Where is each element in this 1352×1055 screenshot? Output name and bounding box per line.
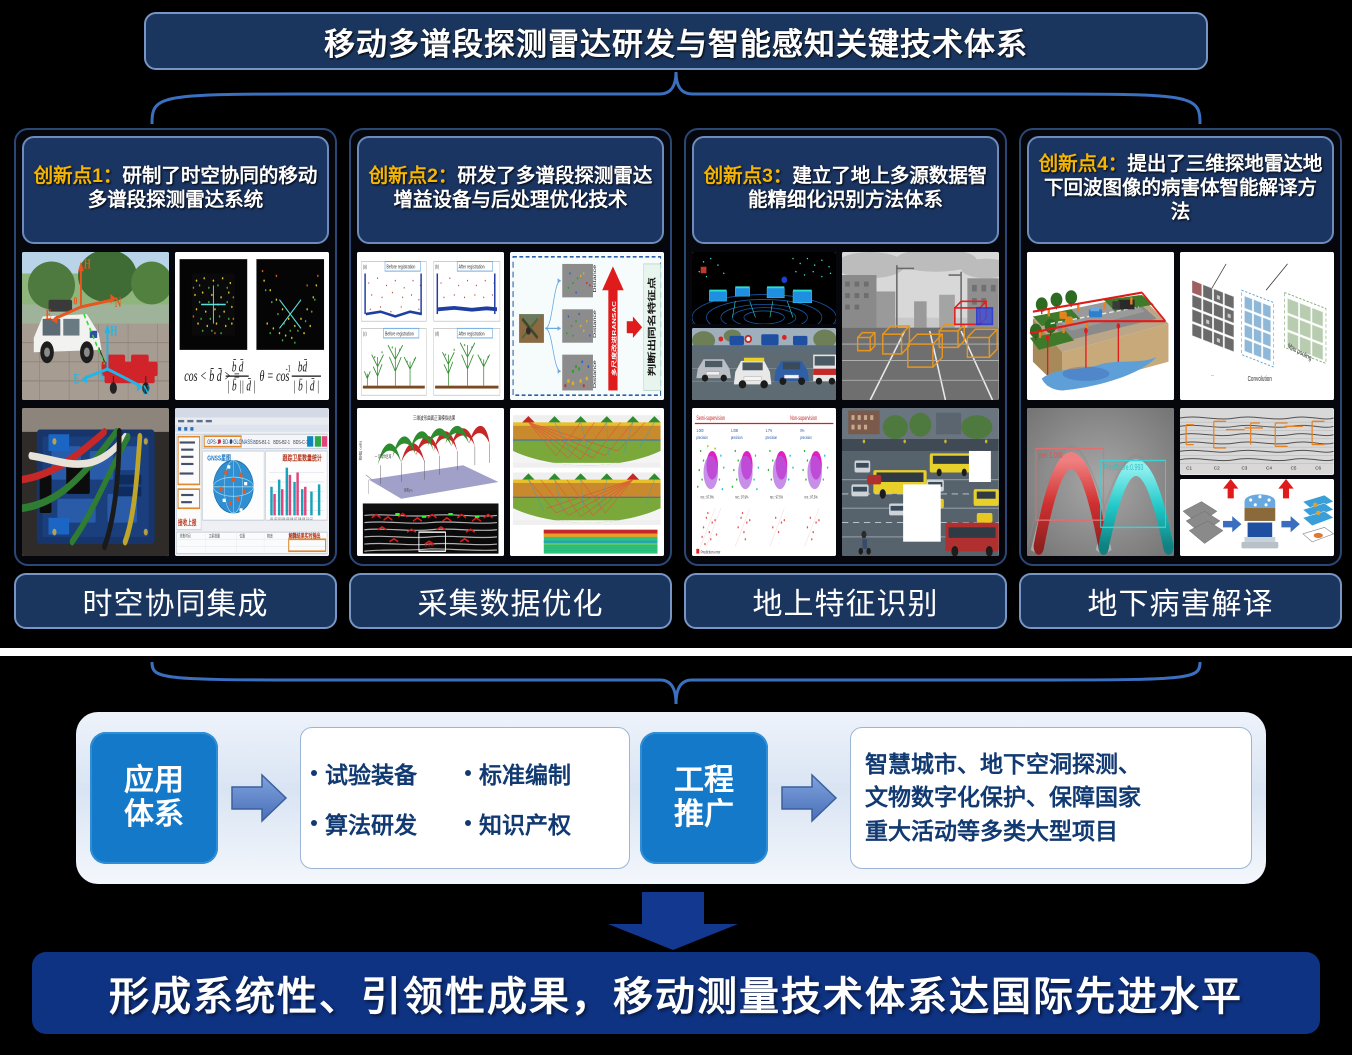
- svg-text:(a): (a): [363, 264, 367, 270]
- innovation-column-3[interactable]: 创新点3：建立了地上多源数据智能精细化识别方法体系: [684, 128, 1007, 566]
- innovation-4-header: 创新点4：提出了三维探地雷达地下回波图像的病害体智能解译方法: [1027, 136, 1334, 244]
- svg-text:(d): (d): [435, 331, 439, 337]
- bullet-label-4: 知识产权: [479, 806, 571, 840]
- svg-text:Prediction error: Prediction error: [701, 549, 721, 555]
- innovation-3-header: 创新点3：建立了地上多源数据智能精细化识别方法体系: [692, 136, 999, 244]
- svg-text:After registration: After registration: [459, 264, 485, 271]
- svg-text:E: E: [46, 306, 52, 323]
- svg-text:位置: 位置: [240, 533, 246, 539]
- innovation-3-index: 创新点3：: [704, 165, 793, 187]
- application-system-box[interactable]: 应用 体系: [90, 732, 218, 864]
- 3d-bounding-box-detection: [842, 252, 999, 400]
- svg-text:多尺度改进RANSAC: 多尺度改进RANSAC: [611, 301, 618, 376]
- svg-text:0: 0: [100, 371, 104, 384]
- bullet-item-3[interactable]: 算法研发: [311, 806, 465, 840]
- innovation-4-figures: ... Convolution: [1027, 244, 1334, 556]
- svg-text:接收上报: 接收上报: [178, 518, 198, 528]
- innovation-2-index: 创新点2：: [369, 165, 458, 187]
- svg-text:卫星数量: 卫星数量: [209, 533, 220, 539]
- svg-text:精度: 精度: [268, 533, 274, 539]
- svg-text:1.000: 1.000: [696, 427, 704, 433]
- svg-text:...: ...: [1211, 373, 1214, 379]
- svg-text:距离(m): 距离(m): [404, 487, 412, 493]
- innovation-column-4[interactable]: 创新点4：提出了三维探地雷达地下回波图像的病害体智能解译方法: [1019, 128, 1342, 566]
- bullet-label-3: 算法研发: [325, 806, 417, 840]
- bullet-item-4[interactable]: 知识产权: [465, 806, 619, 840]
- application-system-line-1: 应用: [124, 764, 184, 797]
- gpr-profile-markers: C1C2C3C4C5C6: [1180, 408, 1334, 475]
- layered-ray-path-model: [510, 408, 664, 556]
- svg-text:| b̄ || d̄ |: | b̄ || d̄ |: [228, 377, 257, 394]
- svg-text:C3: C3: [1242, 465, 1248, 471]
- 3d-waveform-surface-and-radargram: 三维波形曲面正演模拟结果: [357, 408, 504, 556]
- bullet-dot-icon: [465, 770, 471, 776]
- innovation-columns: 创新点1：研制了时空协同的移动多谱段探测雷达系统: [14, 128, 1342, 566]
- svg-text:采集时间: 采集时间: [180, 533, 191, 539]
- promotion-text-line-1: 智慧城市、地下空洞探测、: [865, 748, 1141, 781]
- innovation-1-title: 研制了时空协同的移动多谱段探测雷达系统: [88, 165, 318, 211]
- svg-text:Before registration: Before registration: [385, 331, 414, 338]
- svg-text:1.000: 1.000: [731, 427, 739, 433]
- bullet-dot-icon: [465, 820, 471, 826]
- svg-text:(b): (b): [435, 264, 439, 270]
- svg-text:C5: C5: [1291, 465, 1297, 471]
- promotion-line-1: 工程: [674, 764, 734, 797]
- svg-text:C1: C1: [1187, 465, 1193, 471]
- arrow-down-icon: [598, 890, 748, 952]
- svg-text:判断出同名特征点: 判断出同名特征点: [647, 276, 657, 376]
- outcome-label-1[interactable]: 时空协同集成: [14, 573, 337, 629]
- svg-text:After registration: After registration: [459, 331, 485, 338]
- bullet-label-2: 标准编制: [479, 756, 571, 790]
- bullet-label-1: 试验装备: [325, 756, 417, 790]
- svg-text:(c): (c): [363, 331, 367, 337]
- innovation-column-1[interactable]: 创新点1：研制了时空协同的移动多谱段探测雷达系统: [14, 128, 337, 566]
- svg-text:GLONASS: GLONASS: [234, 439, 254, 446]
- svg-text:C2: C2: [1214, 465, 1220, 471]
- innovation-4-index: 创新点4：: [1039, 153, 1128, 175]
- road-subsurface-survey-3d-model: [1027, 252, 1174, 400]
- gnss-satellite-tracking-software: 接收上报 GPS-1BD-1GLONASS BDS-B1-1BDS-B2-1BD…: [175, 408, 329, 556]
- outcome-label-2[interactable]: 采集数据优化: [349, 573, 672, 629]
- innovation-1-index: 创新点1：: [34, 165, 123, 187]
- synchronization-circuit-board-photo: [22, 408, 169, 556]
- promotion-text-line-2: 文物数字化保护、保障国家: [865, 781, 1141, 814]
- svg-text:pre: 1.000: pre: 1.000: [1039, 451, 1063, 461]
- outcome-label-3[interactable]: 地上特征识别: [684, 573, 1007, 629]
- supervision-comparison-charts: Semi-supervision Non-supervision 1.000pr…: [692, 408, 836, 556]
- innovation-3-figures: Semi-supervision Non-supervision 1.000pr…: [692, 244, 999, 556]
- svg-text:H: H: [110, 322, 117, 339]
- svg-text:1.7%: 1.7%: [766, 427, 773, 433]
- svg-text:bd̄: bd̄: [298, 358, 308, 375]
- svg-text:N: N: [115, 294, 122, 311]
- svg-text:振幅 (dB): 振幅 (dB): [358, 440, 362, 461]
- promotion-line-2: 推广: [674, 798, 734, 831]
- bullet-item-1[interactable]: 试验装备: [311, 756, 465, 790]
- bullet-dot-icon: [311, 770, 317, 776]
- page-title: 移动多谱段探测雷达研发与智能感知关键技术体系: [144, 12, 1208, 70]
- svg-text:rec.: 97.8%: rec.: 97.8%: [701, 495, 715, 500]
- svg-text:C6: C6: [1316, 465, 1322, 471]
- svg-text:Distance: Distance: [593, 359, 598, 388]
- svg-text:precision: precision: [800, 434, 812, 440]
- svg-text:rec.: 97.5%: rec.: 97.5%: [805, 495, 819, 500]
- innovation-1-header: 创新点1：研制了时空协同的移动多谱段探测雷达系统: [22, 136, 329, 244]
- mid-brace-connector: [0, 656, 1352, 708]
- svg-text:G1 G2 G3 G4 G5 G6 G7 G8 G9 C: G1 G2 G3 G4 G5 G6 G7 G8 G9 C1 C2: [271, 517, 314, 522]
- point-cloud-registration-formula: cos < b̄ d̄ > = b̄ d̄ | b̄ || d̄ | θ = c…: [175, 252, 329, 400]
- svg-text:异常体: 异常体: [425, 542, 434, 548]
- bullet-item-2[interactable]: 标准编制: [465, 756, 619, 790]
- outcome-label-4[interactable]: 地下病害解译: [1019, 573, 1342, 629]
- svg-text:Semi-supervision: Semi-supervision: [696, 415, 725, 422]
- svg-text:-1: -1: [286, 363, 291, 374]
- bullet-dot-icon: [311, 820, 317, 826]
- innovation-column-2[interactable]: 创新点2：研发了多谱段探测雷达增益设备与后处理优化技术 Before regis…: [349, 128, 672, 566]
- final-outcome-banner: 形成系统性、引领性成果，移动测量技术体系达国际先进水平: [32, 952, 1320, 1034]
- top-brace-connector: [0, 70, 1352, 126]
- column-outcome-labels: 时空协同集成 采集数据优化 地上特征识别 地下病害解译: [14, 573, 1342, 629]
- svg-text:| b̄ | d̄ |: | b̄ | d̄ |: [294, 377, 320, 394]
- svg-text:0%: 0%: [800, 427, 805, 433]
- innovation-2-header: 创新点2：研发了多谱段探测雷达增益设备与后处理优化技术: [357, 136, 664, 244]
- promotion-text-line-3: 重大活动等多类大型项目: [865, 815, 1141, 848]
- arrow-right-icon: [228, 765, 290, 831]
- svg-text:Distance: Distance: [593, 264, 598, 293]
- svg-text:Before registration: Before registration: [386, 264, 415, 271]
- svg-text:BDS-B1-1: BDS-B1-1: [254, 439, 271, 446]
- svg-text:PredScore:0.993: PredScore:0.993: [1104, 463, 1144, 473]
- svg-text:precision: precision: [731, 434, 743, 440]
- svg-text:N: N: [143, 382, 150, 399]
- before-after-registration-pointclouds: Before registration (a) After registr: [357, 252, 504, 400]
- svg-text:Non-supervision: Non-supervision: [790, 415, 817, 422]
- svg-text:BDS-C-1: BDS-C-1: [294, 439, 309, 446]
- aerial-traffic-scene-photo: [842, 408, 999, 556]
- section-divider: [0, 648, 1352, 656]
- svg-text:Distance: Distance: [593, 309, 598, 338]
- lidar-pointcloud-vehicle-detection: [692, 252, 836, 324]
- svg-text:E: E: [74, 370, 80, 387]
- application-band: 应用 体系 试验装备 标准编制 算法研发 知识产权: [76, 712, 1266, 884]
- application-system-line-2: 体系: [124, 798, 184, 831]
- svg-text:C4: C4: [1266, 465, 1272, 471]
- svg-text:b̄ d̄: b̄ d̄: [232, 358, 244, 375]
- svg-text:GPS-1: GPS-1: [208, 439, 220, 446]
- application-bullets-card: 试验装备 标准编制 算法研发 知识产权: [300, 727, 630, 869]
- svg-text:0: 0: [74, 295, 78, 308]
- svg-text:跟踪卫星数量统计: 跟踪卫星数量统计: [283, 452, 323, 463]
- svg-text:H: H: [84, 255, 91, 272]
- cnn-feature-map-layers: ... Convolution: [1180, 252, 1334, 400]
- svg-text:rec.: 97.5%: rec.: 97.5%: [770, 495, 784, 500]
- ai-interpretation-pipeline: [1180, 479, 1334, 556]
- svg-text:解算结果实时输出: 解算结果实时输出: [289, 531, 321, 541]
- svg-text:一 异常体区域: 一 异常体区域: [375, 453, 392, 459]
- promotion-scope-card: 智慧城市、地下空洞探测、 文物数字化保护、保障国家 重大活动等多类大型项目: [850, 727, 1252, 869]
- vehicle-mounted-multispectral-radar-photo: H E N 0 H E N 0: [22, 252, 169, 400]
- svg-text:BDS-B2-1: BDS-B2-1: [274, 439, 291, 446]
- svg-text:precision: precision: [766, 434, 778, 440]
- svg-text:Convolution: Convolution: [1248, 376, 1272, 383]
- innovation-1-figures: H E N 0 H E N 0: [22, 244, 329, 556]
- innovation-2-figures: Before registration (a) After registr: [357, 244, 664, 556]
- engineering-promotion-box[interactable]: 工程 推广: [640, 732, 768, 864]
- arrow-right-icon: [778, 765, 840, 831]
- urban-street-scene-annotation: [692, 328, 836, 400]
- hyperbola-echo-detection: pre: 1.000 PredScore:0.993: [1027, 408, 1174, 556]
- svg-text:precision: precision: [696, 434, 708, 440]
- same-name-feature-point-matching-flow: Distance Distance: [510, 252, 664, 400]
- svg-text:rec.: 97.9%: rec.: 97.9%: [735, 495, 749, 500]
